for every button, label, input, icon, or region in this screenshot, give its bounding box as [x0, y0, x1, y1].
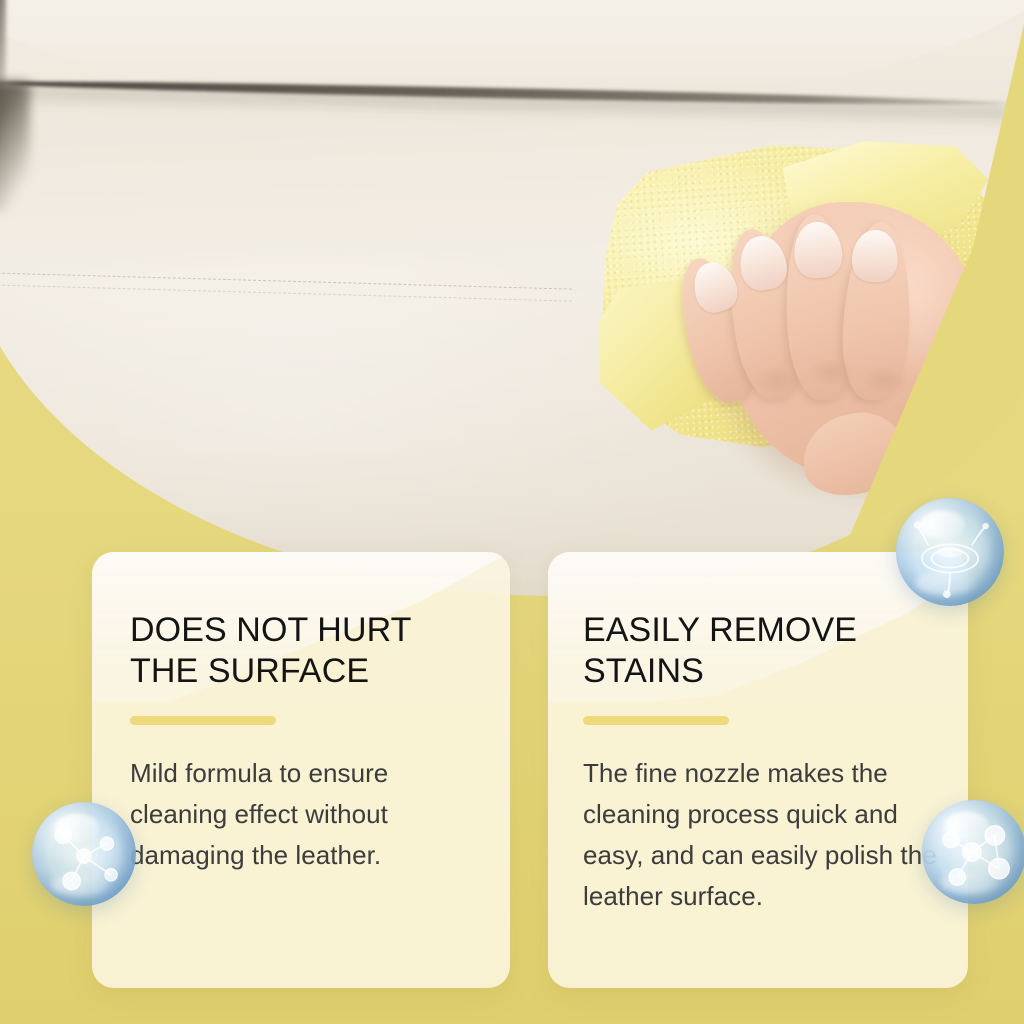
bubble-highlight: [55, 814, 99, 841]
bubble-lower-highlight: [51, 873, 109, 896]
molecule-bubble-icon: [32, 802, 136, 906]
knuckle-2: [808, 360, 854, 386]
knuckle-3: [862, 368, 908, 394]
water-droplet-bubble-icon: [896, 498, 1004, 606]
feature-card-easily-remove-stains[interactable]: EASILY REMOVE STAINS The fine nozzle mak…: [548, 552, 968, 988]
card-title: DOES NOT HURT THE SURFACE: [130, 610, 480, 692]
molecule-bubble-icon: [922, 800, 1024, 904]
card-title: EASILY REMOVE STAINS: [583, 610, 948, 692]
title-underline-rule: [130, 716, 276, 725]
hero-photo-blob: [0, 0, 1024, 596]
knuckle-1: [754, 368, 800, 394]
bubble-highlight: [920, 511, 965, 539]
bubble-lower-highlight: [941, 871, 999, 894]
product-feature-poster: DOES NOT HURT THE SURFACE Mild formula t…: [0, 0, 1024, 1024]
feature-card-does-not-hurt-the-surface[interactable]: DOES NOT HURT THE SURFACE Mild formula t…: [92, 552, 510, 988]
card-body-text: The fine nozzle makes the cleaning proce…: [583, 753, 948, 917]
bubble-lower-highlight: [915, 571, 975, 595]
leather-sofa-photo: [0, 0, 1024, 596]
card-body-text: Mild formula to ensure cleaning effect w…: [130, 753, 480, 876]
title-underline-rule: [583, 716, 729, 725]
bubble-highlight: [945, 812, 989, 839]
